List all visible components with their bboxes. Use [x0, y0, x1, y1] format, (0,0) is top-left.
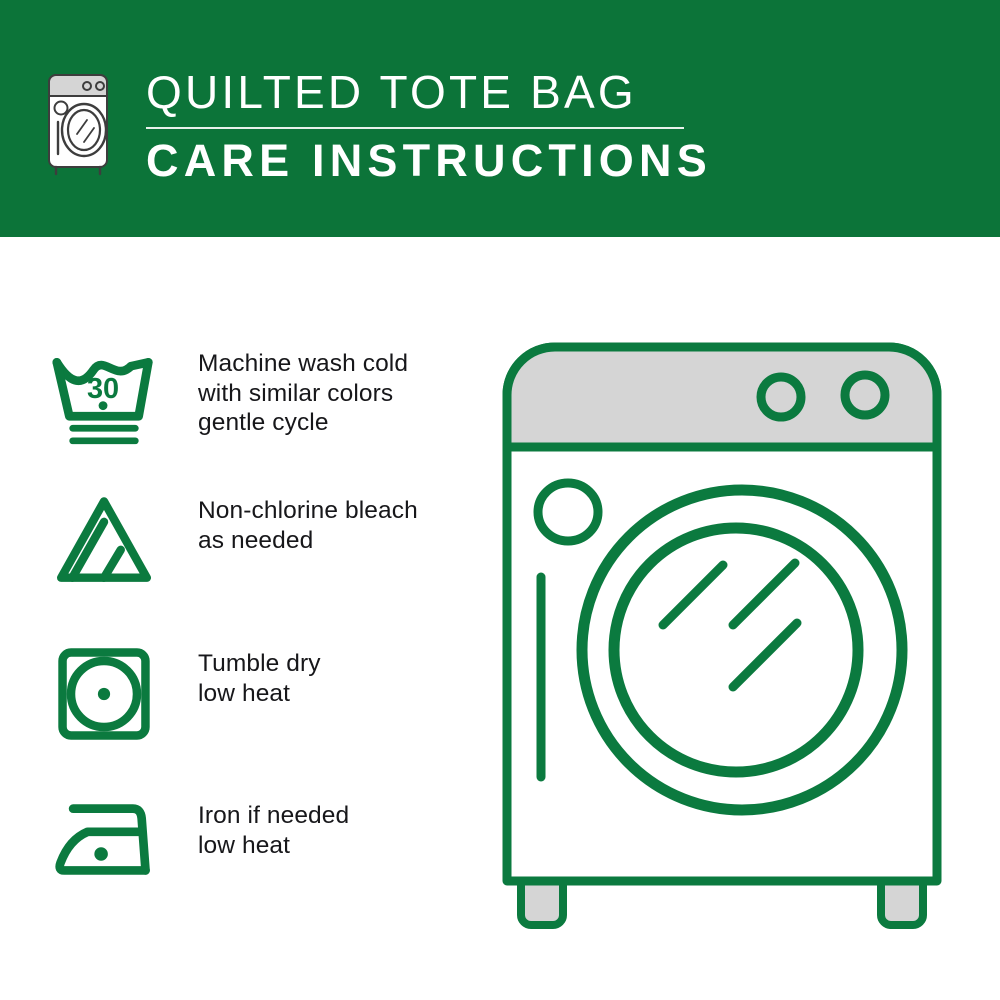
care-text-line: gentle cycle — [198, 408, 408, 438]
iron-low-heat-icon — [46, 797, 162, 884]
care-instruction-list: 30 Machine wash cold with similar colors… — [0, 237, 470, 1000]
care-text-bleach: Non-chlorine bleach as needed — [198, 492, 418, 555]
washing-machine-icon — [44, 72, 112, 176]
care-text-line: low heat — [198, 831, 349, 861]
care-row-iron: Iron if needed low heat — [46, 797, 466, 884]
non-chlorine-bleach-triangle-icon — [46, 492, 162, 589]
care-row-bleach: Non-chlorine bleach as needed — [46, 492, 466, 589]
care-text-line: Tumble dry — [198, 649, 321, 679]
care-text-line: low heat — [198, 679, 321, 709]
care-text-line: with similar colors — [198, 379, 408, 409]
care-text-line: Machine wash cold — [198, 349, 408, 379]
wash-basin-30-icon: 30 — [46, 345, 162, 449]
washer-control-panel — [507, 347, 937, 447]
care-row-tumble-dry: Tumble dry low heat — [46, 645, 466, 743]
title-divider — [146, 127, 684, 129]
care-row-wash: 30 Machine wash cold with similar colors… — [46, 345, 466, 449]
header-text-block: QUILTED TOTE BAG CARE INSTRUCTIONS — [146, 66, 706, 187]
care-text-wash: Machine wash cold with similar colors ge… — [198, 345, 408, 438]
care-text-line: as needed — [198, 526, 418, 556]
page-subtitle: CARE INSTRUCTIONS — [146, 135, 706, 187]
care-text-line: Iron if needed — [198, 801, 349, 831]
tumble-dry-low-heat-icon — [46, 645, 162, 743]
header-band: QUILTED TOTE BAG CARE INSTRUCTIONS — [0, 0, 1000, 237]
care-text-iron: Iron if needed low heat — [198, 797, 349, 860]
wash-temperature-label: 30 — [87, 373, 119, 405]
care-instructions-infographic: QUILTED TOTE BAG CARE INSTRUCTIONS 30 — [0, 0, 1000, 1000]
front-load-washing-machine-illustration — [483, 325, 983, 935]
page-title: QUILTED TOTE BAG — [146, 66, 706, 118]
care-text-line: Non-chlorine bleach — [198, 496, 418, 526]
care-text-tumble-dry: Tumble dry low heat — [198, 645, 321, 708]
